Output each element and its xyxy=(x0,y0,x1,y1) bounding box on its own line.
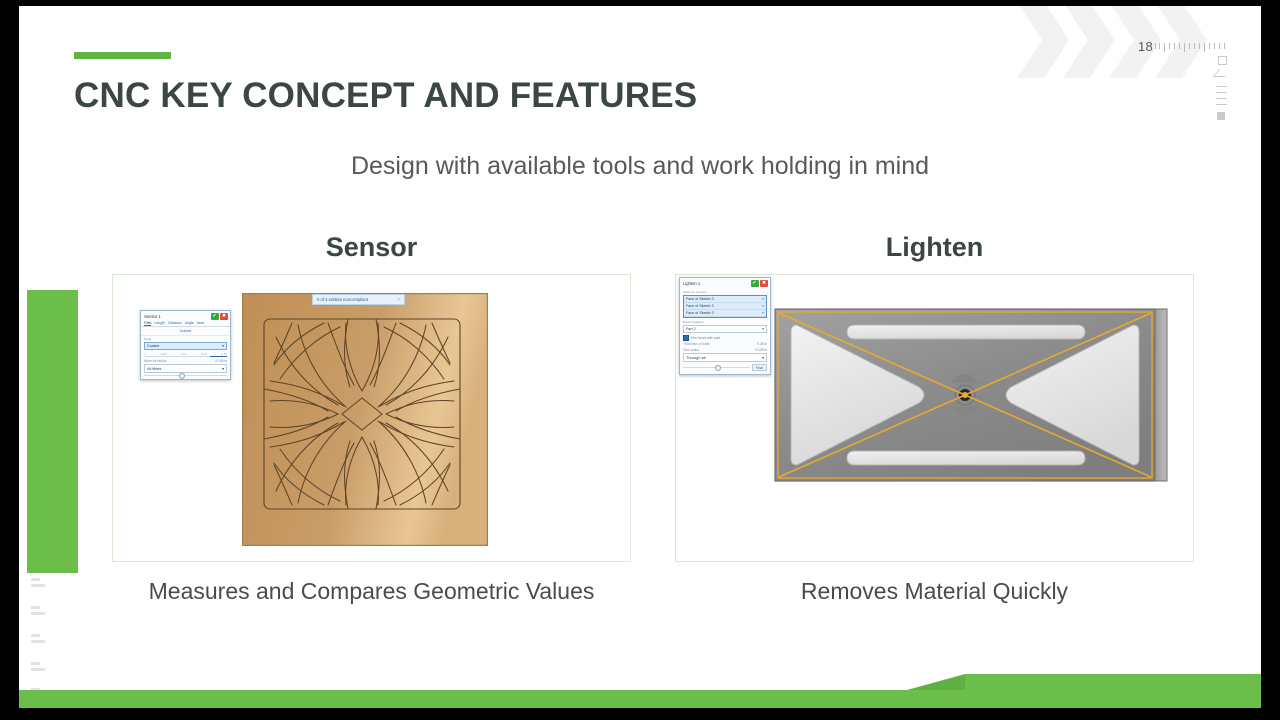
slider-track[interactable] xyxy=(683,367,750,368)
remove-icon[interactable]: × xyxy=(762,304,764,308)
lighten-dialog[interactable]: Lighten 1 ✔ ✖ Faces to remove Face of Sk… xyxy=(679,277,771,375)
dash-icon xyxy=(1216,98,1227,99)
warn-radius-label: Warn for radius xyxy=(144,359,166,363)
tool-radius-value: 0.125 in xyxy=(755,348,767,352)
radius-scale-bar xyxy=(144,356,227,357)
parts-select[interactable]: Coaster ▾ xyxy=(144,342,227,350)
chevron-down-icon xyxy=(1213,69,1231,77)
scale-tick: 0.25 xyxy=(222,352,227,356)
face-label: Face of Sketch 3 xyxy=(686,304,714,308)
scale-tick: 0.06 xyxy=(160,352,165,356)
fillet-filter-value: All fillets xyxy=(147,366,161,371)
scale-tick: 0.13 xyxy=(181,352,186,356)
warn-radius-row: Warn for radius 0.125 in xyxy=(141,357,230,363)
dash-icon xyxy=(1216,86,1227,87)
lighten-image-panel: Lighten 1 ✔ ✖ Faces to remove Face of Sk… xyxy=(675,274,1194,562)
accept-button[interactable]: ✔ xyxy=(211,313,219,320)
tab-area[interactable]: Area xyxy=(197,321,204,326)
column-heading-sensor: Sensor xyxy=(112,232,631,263)
tab-length[interactable]: Length xyxy=(154,321,165,326)
face-label: Face of Sketch 3 xyxy=(686,311,714,315)
sensor-dialog-header: Sensor 1 ✔ ✖ xyxy=(141,311,230,321)
caption-sensor: Measures and Compares Geometric Values xyxy=(112,578,631,605)
cancel-button[interactable]: ✖ xyxy=(220,313,228,320)
depth-select[interactable]: Through all ▾ xyxy=(683,353,767,362)
toast-message: 0 of 4 entities noncompliant xyxy=(317,297,368,302)
ribbon-shade xyxy=(907,674,965,690)
lighten-dialog-buttons: ✔ ✖ xyxy=(751,280,769,287)
lightened-plate-artwork xyxy=(769,303,1174,487)
list-item[interactable]: Face of Sketch 3 × xyxy=(684,296,766,303)
bottom-green-ribbon xyxy=(19,674,1261,708)
face-label: Face of Sketch 3 xyxy=(686,297,714,301)
chevron-icon xyxy=(1063,6,1115,78)
thickness-value: 0.25 in xyxy=(757,342,767,346)
final-button[interactable]: Final xyxy=(752,364,767,371)
sensor-image-panel: 0 of 4 entities noncompliant × Sensor 1 … xyxy=(112,274,631,562)
parts-value: Coaster xyxy=(147,344,160,348)
thickness-label: Thickness of walls xyxy=(683,342,710,346)
chevron-down-icon[interactable]: ▾ xyxy=(762,327,764,331)
sensor-dialog-title: Sensor 1 xyxy=(144,314,161,319)
faces-to-remove-label: Faces to remove xyxy=(680,288,770,294)
remove-icon[interactable]: × xyxy=(762,297,764,301)
page-subtitle: Design with available tools and work hol… xyxy=(19,152,1261,181)
checkbox-icon[interactable] xyxy=(683,335,689,341)
chevron-icon xyxy=(1109,6,1161,78)
slide-root: 18 CNC KEY CONCEPT AND FEATURES Design w… xyxy=(0,0,1280,720)
dash-icon xyxy=(1216,104,1227,105)
close-icon[interactable]: × xyxy=(397,297,400,303)
coaster-artwork xyxy=(242,293,488,546)
trim-faces-checkbox-row[interactable]: Trim faces with part xyxy=(680,333,770,341)
column-heading-lighten: Lighten xyxy=(675,232,1194,263)
tab-angle[interactable]: Angle xyxy=(185,321,194,326)
faces-list[interactable]: Face of Sketch 3 × Face of Sketch 3 × Fa… xyxy=(683,295,767,318)
square-outline-icon xyxy=(1218,56,1227,65)
page-number: 18 xyxy=(1138,39,1153,54)
chevron-down-icon[interactable]: ▾ xyxy=(762,355,764,360)
lighten-dialog-header: Lighten 1 ✔ ✖ xyxy=(680,278,770,288)
sensor-dialog[interactable]: Sensor 1 ✔ ✖ Fillet Length Distance Angl… xyxy=(140,310,231,380)
caption-lighten: Removes Material Quickly xyxy=(675,578,1194,605)
radius-scale-ticks: 0 0.06 0.13 0.19 0.25 xyxy=(141,350,230,356)
slider-knob[interactable] xyxy=(179,373,185,379)
cancel-button[interactable]: ✖ xyxy=(760,280,768,287)
chevron-down-icon[interactable]: ▾ xyxy=(222,366,224,371)
parts-to-lighten-value: Part 2 xyxy=(686,327,696,331)
list-item[interactable]: Face of Sketch 3 × xyxy=(684,310,766,317)
scale-tick: 0 xyxy=(144,352,146,356)
tab-distance[interactable]: Distance xyxy=(168,321,182,326)
vertical-decoration xyxy=(1215,56,1231,126)
parts-to-lighten-label: Parts to lighten xyxy=(680,319,770,325)
accept-button[interactable]: ✔ xyxy=(751,280,759,287)
parts-to-lighten-select[interactable]: Part 2 ▾ xyxy=(683,325,767,333)
lighten-dialog-title: Lighten 1 xyxy=(683,281,700,286)
scale-tick: 0.19 xyxy=(201,352,206,356)
tool-radius-label: Tool radius xyxy=(683,348,699,352)
sensor-dialog-buttons: ✔ ✖ xyxy=(211,313,229,320)
left-green-accent-block xyxy=(27,290,78,573)
compliance-toast: 0 of 4 entities noncompliant × xyxy=(312,294,405,305)
page-title: CNC KEY CONCEPT AND FEATURES xyxy=(74,76,697,116)
tool-radius-row: Tool radius 0.125 in xyxy=(680,346,770,352)
remove-icon[interactable]: × xyxy=(762,311,764,315)
slider-track[interactable] xyxy=(144,375,227,376)
tab-volume[interactable]: Volume xyxy=(141,327,230,336)
parts-label: Parts xyxy=(141,336,230,342)
depth-value: Through all xyxy=(686,355,705,360)
dash-icon xyxy=(1216,92,1227,93)
fillet-filter-select[interactable]: All fillets ▾ xyxy=(144,364,227,373)
lighten-slider-row[interactable]: Final xyxy=(683,364,767,371)
ruler-ticks xyxy=(1155,40,1233,55)
trim-faces-label: Trim faces with part xyxy=(691,336,720,340)
list-item[interactable]: Face of Sketch 3 × xyxy=(684,303,766,310)
radius-slider[interactable] xyxy=(144,375,227,376)
tab-fillet[interactable]: Fillet xyxy=(144,321,151,326)
chevron-icon xyxy=(1017,6,1069,78)
title-accent-bar xyxy=(74,52,171,59)
slider-knob[interactable] xyxy=(715,365,721,371)
filled-square-icon xyxy=(1217,112,1225,120)
chevron-down-icon[interactable]: ▾ xyxy=(222,344,224,348)
warn-radius-value: 0.125 in xyxy=(215,359,227,363)
slide-canvas: 18 CNC KEY CONCEPT AND FEATURES Design w… xyxy=(19,6,1261,708)
